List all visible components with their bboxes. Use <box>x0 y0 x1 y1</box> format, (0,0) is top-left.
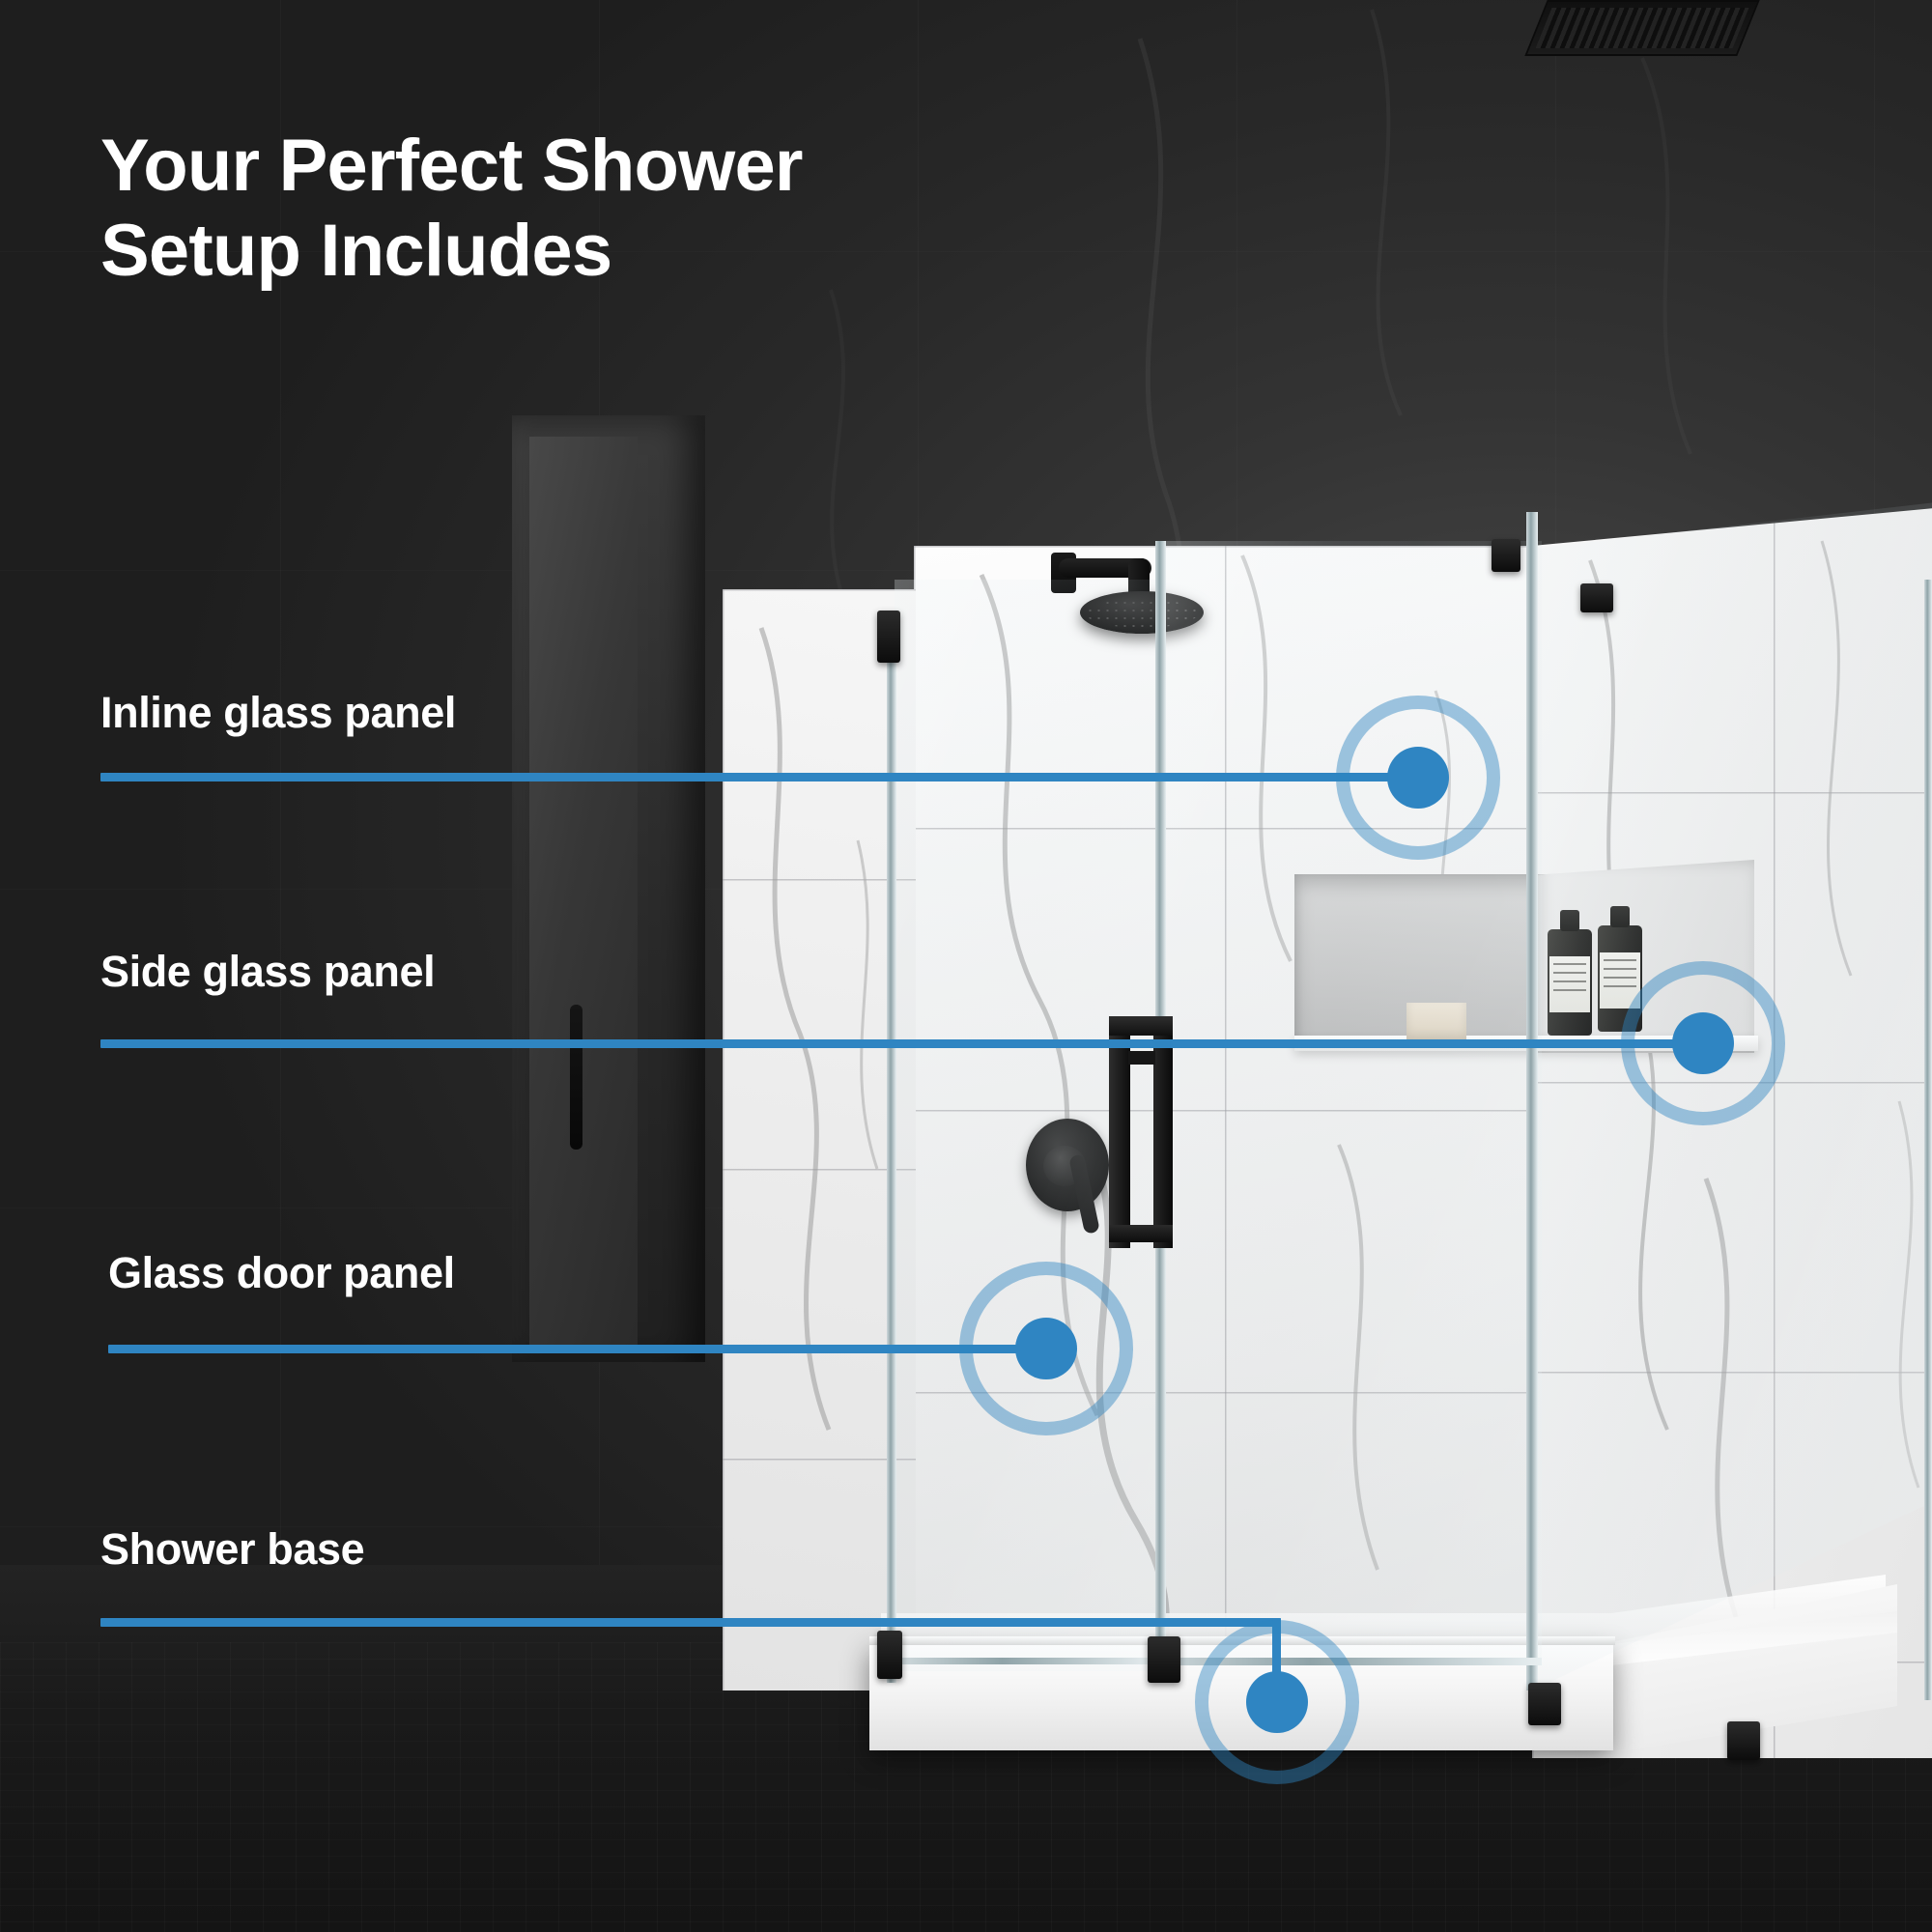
callout-marker-dot <box>1246 1671 1308 1733</box>
glass-clamp-corner-bottom <box>1528 1683 1561 1725</box>
glass-clamp-top <box>877 611 900 663</box>
glass-clamp-side-top <box>1580 583 1613 612</box>
callout-label-side-glass-panel: Side glass panel <box>100 947 435 997</box>
callout-label-glass-door-panel: Glass door panel <box>108 1248 455 1298</box>
glass-clamp-door-bottom <box>1148 1636 1180 1683</box>
callout-leader-inline-glass-panel <box>100 773 1418 781</box>
door-handle-mid-link <box>1128 1051 1155 1065</box>
ceiling-vent-icon <box>1524 0 1759 56</box>
glass-clamp-bottom <box>877 1631 902 1679</box>
callout-leader-glass-door-panel <box>108 1345 1046 1353</box>
door-glass-bottom-rail <box>898 1658 1157 1664</box>
callout-marker-glass-door-panel[interactable] <box>959 1262 1133 1435</box>
callout-marker-inline-glass-panel[interactable] <box>1336 696 1500 860</box>
page-title: Your Perfect Shower Setup Includes <box>100 124 1066 294</box>
callout-marker-dot <box>1387 747 1449 809</box>
door-handle-bottom-bracket <box>1109 1225 1173 1242</box>
callout-marker-shower-base[interactable] <box>1195 1620 1359 1784</box>
page-title-line-1: Your Perfect Shower <box>100 124 1066 209</box>
door-handle-bar-inner <box>1153 1016 1173 1248</box>
callout-label-shower-base: Shower base <box>100 1524 364 1575</box>
callout-label-inline-glass-panel: Inline glass panel <box>100 688 456 738</box>
callout-leader-side-glass-panel <box>100 1039 1703 1048</box>
door-handle-top-bracket <box>1109 1016 1173 1036</box>
callout-marker-dot <box>1672 1012 1734 1074</box>
infographic-canvas: Your Perfect Shower Setup Includes Inlin… <box>0 0 1932 1932</box>
door-handle-bar-outer <box>1109 1016 1130 1248</box>
side-glass-edge-right <box>1924 580 1932 1700</box>
callout-marker-side-glass-panel[interactable] <box>1621 961 1785 1125</box>
callout-leader-shower-base <box>100 1618 1281 1627</box>
glass-clamp-corner-top <box>1492 539 1520 572</box>
callout-marker-dot <box>1015 1318 1077 1379</box>
glass-clamp-side-bottom <box>1727 1721 1760 1760</box>
vent-grille <box>1536 8 1749 48</box>
door-glass-edge <box>887 638 896 1683</box>
corner-glass-edge <box>1526 512 1538 1690</box>
page-title-line-2: Setup Includes <box>100 209 1066 294</box>
